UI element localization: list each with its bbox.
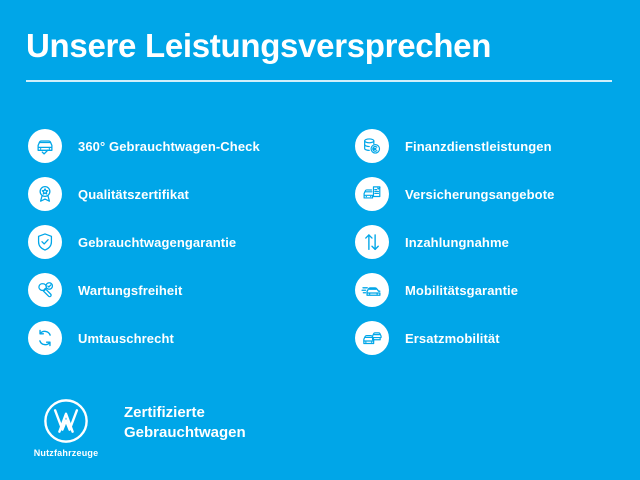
promise-item-ersatzmobilitaet: Ersatzmobilität <box>355 314 640 362</box>
promise-slide: Unsere Leistungsversprechen 360° Gebrauc <box>0 0 640 480</box>
vw-logo-icon <box>42 397 90 445</box>
title-divider <box>26 80 612 82</box>
brand-sub-label: Nutzfahrzeuge <box>34 448 99 458</box>
promise-item-umtauschrecht: Umtauschrecht <box>28 314 328 362</box>
coins-euro-icon <box>355 129 389 163</box>
promise-columns: 360° Gebrauchtwagen-Check Qualitätszerti… <box>0 122 640 362</box>
promise-item-gebrauchtwagengarantie: Gebrauchtwagengarantie <box>28 218 328 266</box>
shield-check-icon <box>28 225 62 259</box>
moving-car-icon <box>355 273 389 307</box>
up-down-arrows-icon <box>355 225 389 259</box>
footer-tagline-line2: Gebrauchtwagen <box>124 423 246 443</box>
header: Unsere Leistungsversprechen <box>26 26 612 82</box>
footer: Nutzfahrzeuge Zertifizierte Gebrauchtwag… <box>30 397 246 458</box>
promise-label: Ersatzmobilität <box>405 331 500 346</box>
award-medal-icon <box>28 177 62 211</box>
car-document-icon <box>355 177 389 211</box>
promise-item-qualitaetszertifikat: Qualitätszertifikat <box>28 170 328 218</box>
promise-item-finanzdienstleistungen: Finanzdienstleistungen <box>355 122 640 170</box>
promise-item-versicherungsangebote: Versicherungsangebote <box>355 170 640 218</box>
promise-item-gebrauchtwagen-check: 360° Gebrauchtwagen-Check <box>28 122 328 170</box>
promise-column-right: Finanzdienstleistungen <box>355 122 640 362</box>
promise-item-inzahlungnahme: Inzahlungnahme <box>355 218 640 266</box>
promise-label: Inzahlungnahme <box>405 235 509 250</box>
footer-tagline: Zertifizierte Gebrauchtwagen <box>124 403 246 443</box>
promise-item-mobilitaetsgarantie: Mobilitätsgarantie <box>355 266 640 314</box>
promise-label: Qualitätszertifikat <box>78 187 189 202</box>
promise-column-left: 360° Gebrauchtwagen-Check Qualitätszerti… <box>28 122 328 362</box>
promise-item-wartungsfreiheit: Wartungsfreiheit <box>28 266 328 314</box>
promise-label: 360° Gebrauchtwagen-Check <box>78 139 260 154</box>
promise-label: Gebrauchtwagengarantie <box>78 235 236 250</box>
promise-label: Wartungsfreiheit <box>78 283 182 298</box>
car-check-icon <box>28 129 62 163</box>
promise-label: Finanzdienstleistungen <box>405 139 552 154</box>
footer-tagline-line1: Zertifizierte <box>124 403 246 423</box>
page-title: Unsere Leistungsversprechen <box>26 26 612 66</box>
wrench-check-icon <box>28 273 62 307</box>
promise-label: Versicherungsangebote <box>405 187 554 202</box>
exchange-arrows-icon <box>28 321 62 355</box>
promise-label: Umtauschrecht <box>78 331 174 346</box>
brand-block: Nutzfahrzeuge <box>30 397 102 458</box>
promise-label: Mobilitätsgarantie <box>405 283 518 298</box>
two-cars-icon <box>355 321 389 355</box>
